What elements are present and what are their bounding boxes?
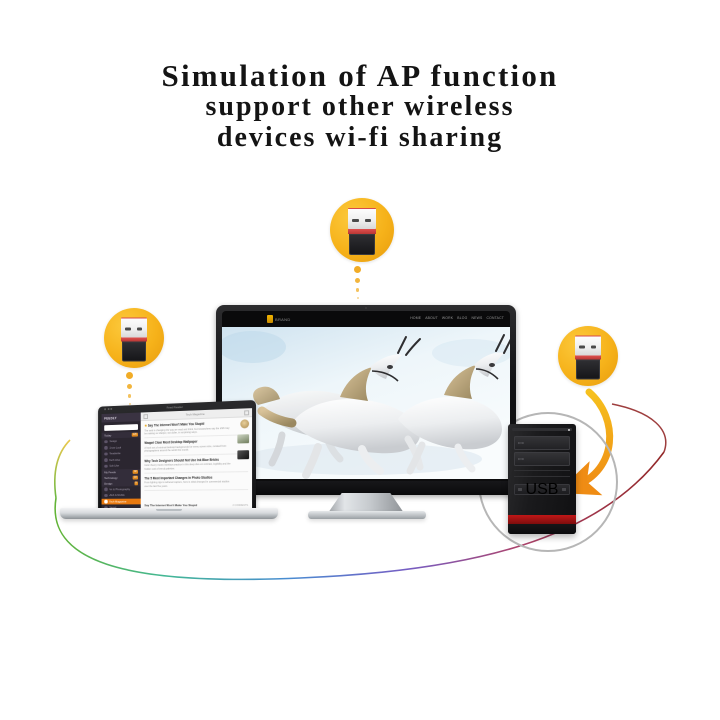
sidebar-item-label: Design [109,439,117,443]
laptop-screen: FEEDLY Today 126 Design Grow Lock [102,408,252,509]
optical-drive-bay-1[interactable]: DVD [514,436,570,450]
star-icon[interactable]: ★ [144,424,147,428]
article-title: The 5 Most Important Changes in Photo St… [144,475,248,480]
tower-top-panel [512,428,572,431]
wifi-usb-adapter-icon [121,318,147,359]
site-logo: BRAND [267,315,291,323]
nav-item-5[interactable]: CONTACT [486,316,504,320]
usb-body [349,234,375,255]
nav-item-3[interactable]: BLOG [457,316,467,320]
list-item[interactable]: Why Tech Designers Should Not Use Ink Bl… [144,457,248,474]
toolbar-right-icon[interactable] [244,410,249,415]
feed-icon [104,440,107,443]
ports-label: USB [526,481,559,499]
article-excerpt: From lighting rigs to tethered capture, … [144,481,248,489]
reader-brand-label: FEEDLY [104,416,117,420]
reader-brand: FEEDLY [102,413,141,423]
wifi-usb-adapter-icon [575,336,601,377]
footer-title: Say The Internet Won't Make You Stupid [144,503,197,507]
feed-icon [104,494,107,497]
connector-dots-top [354,266,361,299]
usb-body [122,342,146,362]
sidebar-item-label: Tech Hive [109,458,120,462]
tower-accent-stripe [508,515,576,524]
power-led-icon [568,429,570,431]
panel-line [514,476,570,477]
sidebar-item-label: Tech Magazine [109,499,126,503]
wifi-usb-adapter-icon [348,208,376,252]
bay-label: DVD [518,458,524,461]
callout-usb-top[interactable] [330,198,394,262]
divider [144,453,248,456]
feed-icon [104,446,107,449]
feed-icon [104,452,107,455]
laptop-lid: Feed Reader FEEDLY Today 126 Design [98,400,256,512]
sidebar-group-label: Technology [104,476,117,480]
front-usb-ports[interactable]: USB [514,484,570,495]
sidebar-item-label: Grow Lock [109,445,121,449]
callout-usb-right[interactable] [558,326,618,386]
nav-item-1[interactable]: ABOUT [425,316,438,320]
callout-usb-left[interactable] [104,308,164,368]
usb-port-icon[interactable] [518,488,522,491]
usb-port-icon[interactable] [562,488,566,491]
reader-toolbar-title: Tech Magazine [186,412,205,417]
sidebar-item-label: Sub Like [109,464,119,468]
usb-contact-icon [352,219,358,222]
nav-item-4[interactable]: NEWS [471,316,482,320]
sidebar-group-label: Today [104,434,111,438]
sidebar-group-label: My Feeds [104,470,116,474]
reader-content: Tech Magazine ★ Say The Internet Won't M… [141,408,252,509]
laptop-notch [156,509,182,511]
logo-mark-icon [267,315,273,323]
navbar-menu[interactable]: HOME ABOUT WORK BLOG NEWS CONTACT [410,316,504,320]
reader-sidebar: FEEDLY Today 126 Design Grow Lock [102,413,141,510]
feed-icon [104,500,107,503]
sidebar-group-badge: 9 [134,481,138,485]
sidebar-group-label: Design [104,481,112,485]
panel-line [514,470,570,471]
usb-connector [348,208,376,229]
monitor-stand-neck [328,493,404,513]
article-thumbnail [237,434,249,443]
tower-body: DVD DVD USB [508,424,576,534]
feed-icon [104,458,107,461]
sidebar-group-badge: 18 [133,475,138,479]
usb-contact-icon [365,219,371,222]
nav-item-0[interactable]: HOME [410,316,421,320]
usb-contact-icon [125,328,131,331]
monitor-stand-base [308,511,426,519]
article-excerpt: Color theory meets interface practice in… [144,462,248,470]
divider [144,471,248,474]
sidebar-item-label: Readwrite [109,452,121,456]
feed-icon [104,464,107,467]
laptop: Feed Reader FEEDLY Today 126 Design [60,400,278,530]
bay-label: DVD [518,442,524,445]
sidebar-item-label: Art & Photography [109,487,130,491]
usb-contact-icon [137,328,143,331]
sidebar-group-badge: 126 [131,433,138,437]
tower-base [508,524,576,534]
list-item[interactable]: ★ Say The Internet Won't Make You Stupid… [144,420,248,438]
usb-contact-icon [591,346,597,349]
article-excerpt: A fresh set of minimal desktop backgroun… [144,444,248,453]
webcam-icon [365,307,367,309]
feed-icon [104,487,107,490]
logo-text: BRAND [275,317,291,322]
nav-item-2[interactable]: WORK [442,316,453,320]
sidebar-group-badge: 32 [133,469,138,473]
divider [144,489,248,491]
list-item[interactable]: Waqari Clear Most Desktop Wallpaper A fr… [144,439,248,457]
article-thumbnail [237,450,249,459]
desktop-pc-tower: DVD DVD USB [508,424,576,534]
list-item[interactable]: The 5 Most Important Changes in Photo St… [144,475,248,491]
usb-connector [575,336,601,356]
article-list: ★ Say The Internet Won't Make You Stupid… [141,417,252,491]
reader-footer: Say The Internet Won't Make You Stupid 2… [144,503,248,507]
website-navbar: BRAND HOME ABOUT WORK BLOG NEWS CONTACT [222,311,510,327]
promo-graphic: Simulation of AP function support other … [0,0,720,720]
usb-body [576,360,600,380]
connector-dots-left [126,372,133,405]
toolbar-left-icon[interactable] [143,414,148,419]
usb-connector [121,318,147,338]
footer-meta: 2 COMMENTS [233,504,249,507]
optical-drive-bay-2[interactable]: DVD [514,452,570,466]
search-input[interactable] [104,424,138,431]
usb-contact-icon [579,346,585,349]
sidebar-item-label: Web & Mobile [109,493,125,497]
